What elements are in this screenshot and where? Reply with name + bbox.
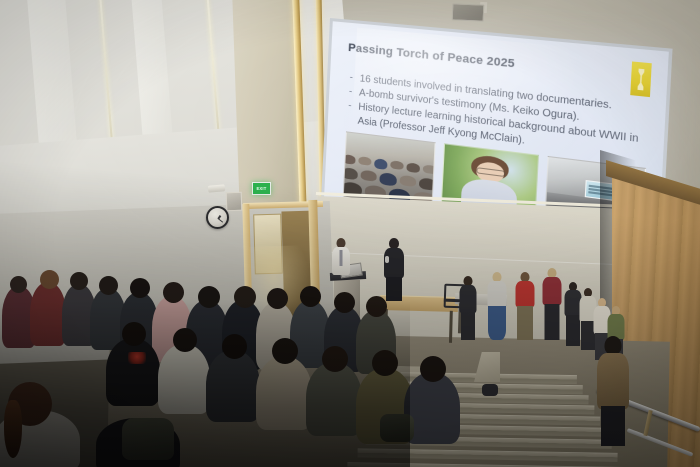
slide-title: Passing Torch of Peace 2025 bbox=[348, 42, 515, 71]
bullet-dash: - bbox=[349, 85, 353, 99]
torch-logo-icon bbox=[630, 61, 652, 97]
bullet-dash: - bbox=[347, 100, 352, 128]
standee-2 bbox=[486, 272, 508, 340]
audience-head bbox=[40, 270, 59, 289]
audience-head bbox=[70, 272, 88, 290]
audience-member bbox=[306, 362, 362, 436]
microphone bbox=[385, 256, 389, 263]
audience-head bbox=[222, 334, 247, 359]
presenter-at-podium bbox=[330, 238, 352, 284]
wall-speaker bbox=[226, 192, 243, 212]
audience-head bbox=[322, 346, 348, 372]
audience-head bbox=[130, 278, 150, 298]
torch-glyph bbox=[637, 68, 644, 90]
exit-sign: EXIT bbox=[252, 182, 271, 195]
standee-9-foreground bbox=[596, 336, 630, 446]
standee-3 bbox=[514, 272, 536, 340]
audience-head bbox=[366, 296, 387, 317]
audience-head bbox=[99, 276, 118, 295]
audience-member bbox=[256, 356, 312, 430]
bullet-dash: - bbox=[349, 71, 353, 85]
auditorium-scene: Passing Torch of Peace 2025 - 16 student… bbox=[0, 0, 700, 467]
audience-head bbox=[10, 276, 27, 293]
backpack-dark bbox=[380, 414, 414, 442]
standee-4 bbox=[541, 268, 563, 340]
audience-head bbox=[334, 292, 355, 313]
standee-1 bbox=[458, 276, 478, 340]
backpack-olive bbox=[122, 418, 174, 460]
wall-light-fixture bbox=[208, 184, 226, 192]
audience-member bbox=[206, 350, 260, 422]
audience-head bbox=[122, 322, 146, 346]
braid bbox=[4, 400, 22, 458]
wall-clock bbox=[206, 206, 229, 229]
audience-head bbox=[372, 350, 398, 376]
audience-member-hoodie bbox=[158, 344, 210, 414]
tshirt-graphic bbox=[128, 352, 146, 364]
exit-sign-label: EXIT bbox=[256, 186, 266, 191]
ceiling-speaker bbox=[452, 3, 485, 21]
audience-head bbox=[234, 286, 256, 308]
audience-head bbox=[420, 356, 446, 382]
audience-head bbox=[198, 286, 220, 308]
clock-minute-hand bbox=[217, 218, 222, 223]
audience-head bbox=[272, 338, 298, 364]
small-bag bbox=[482, 384, 498, 396]
door-inner-light-panel bbox=[253, 214, 283, 275]
audience-member bbox=[30, 282, 66, 346]
presenter-with-microphone bbox=[382, 238, 406, 300]
audience-head bbox=[300, 286, 321, 307]
audience-head bbox=[163, 282, 184, 303]
audience-head bbox=[267, 288, 288, 309]
audience-member-graphic-tee bbox=[106, 338, 160, 406]
necktie bbox=[340, 250, 343, 266]
audience-head bbox=[173, 328, 197, 352]
